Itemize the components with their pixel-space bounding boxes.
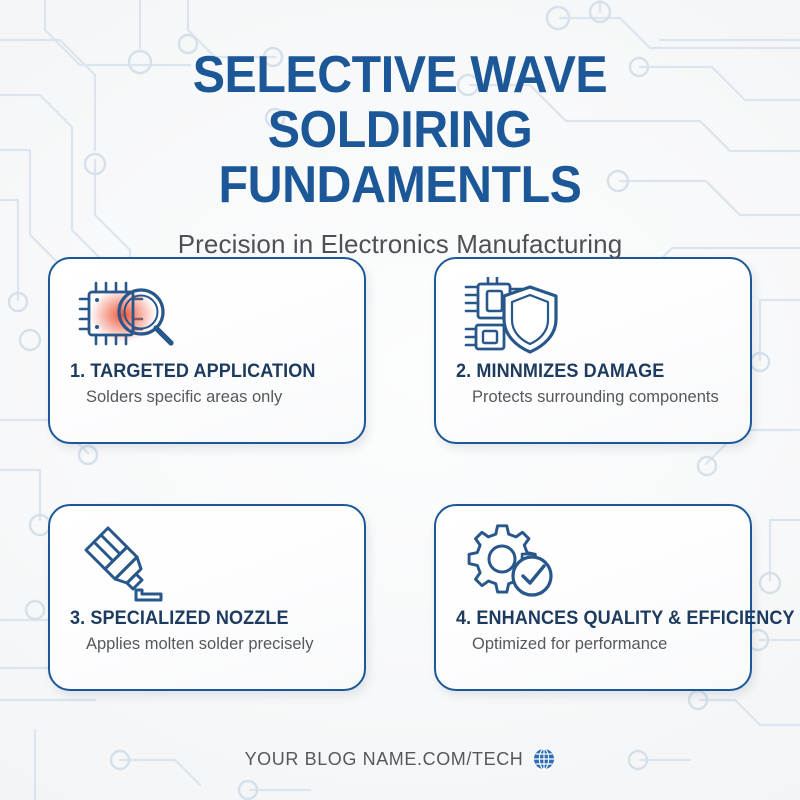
chip-magnifier-icon — [78, 277, 188, 355]
card-minimizes-damage[interactable]: 2. MINNMIZES DAMAGE Protects surrounding… — [434, 257, 752, 444]
card-icon-wrapper — [456, 524, 730, 602]
solder-nozzle-icon — [78, 524, 174, 602]
card-description: Applies molten solder precisely — [86, 635, 344, 654]
card-description: Optimized for performance — [472, 635, 730, 654]
card-icon-wrapper — [70, 524, 344, 602]
page-title: SELECTIVE WAVE SOLDIRING FUNDAMENTLS — [28, 48, 772, 213]
card-icon-wrapper — [70, 277, 344, 355]
card-targeted-application[interactable]: 1. TARGETED APPLICATION Solders specific… — [48, 257, 366, 444]
chip-shield-icon — [464, 277, 568, 355]
card-enhances-quality-efficiency[interactable]: 4. ENHANCES QUALITY & EFFICIENCY Optimiz… — [434, 504, 752, 691]
card-heading: 2. MINNMIZES DAMAGE — [456, 361, 716, 383]
card-icon-wrapper — [456, 277, 730, 355]
footer-blog-url: YOUR BLOG NAME.COM/TECH — [245, 749, 524, 770]
card-description: Protects surrounding components — [472, 388, 730, 407]
title-line-1: SELECTIVE WAVE SOLDIRING — [193, 46, 607, 159]
infographic-canvas: SELECTIVE WAVE SOLDIRING FUNDAMENTLS Pre… — [0, 0, 800, 800]
card-specialized-nozzle[interactable]: 3. SPECIALIZED NOZZLE Applies molten sol… — [48, 504, 366, 691]
card-heading: 4. ENHANCES QUALITY & EFFICIENCY — [456, 608, 716, 630]
page-subtitle: Precision in Electronics Manufacturing — [0, 229, 800, 260]
gear-check-icon — [464, 524, 564, 602]
card-heading: 3. SPECIALIZED NOZZLE — [70, 608, 330, 630]
footer: YOUR BLOG NAME.COM/TECH — [0, 748, 800, 770]
cards-grid: 1. TARGETED APPLICATION Solders specific… — [48, 257, 752, 691]
title-line-2: FUNDAMENTLS — [219, 156, 582, 214]
header: SELECTIVE WAVE SOLDIRING FUNDAMENTLS Pre… — [0, 48, 800, 260]
card-heading: 1. TARGETED APPLICATION — [70, 361, 330, 383]
globe-icon — [533, 748, 555, 770]
card-description: Solders specific areas only — [86, 388, 344, 407]
